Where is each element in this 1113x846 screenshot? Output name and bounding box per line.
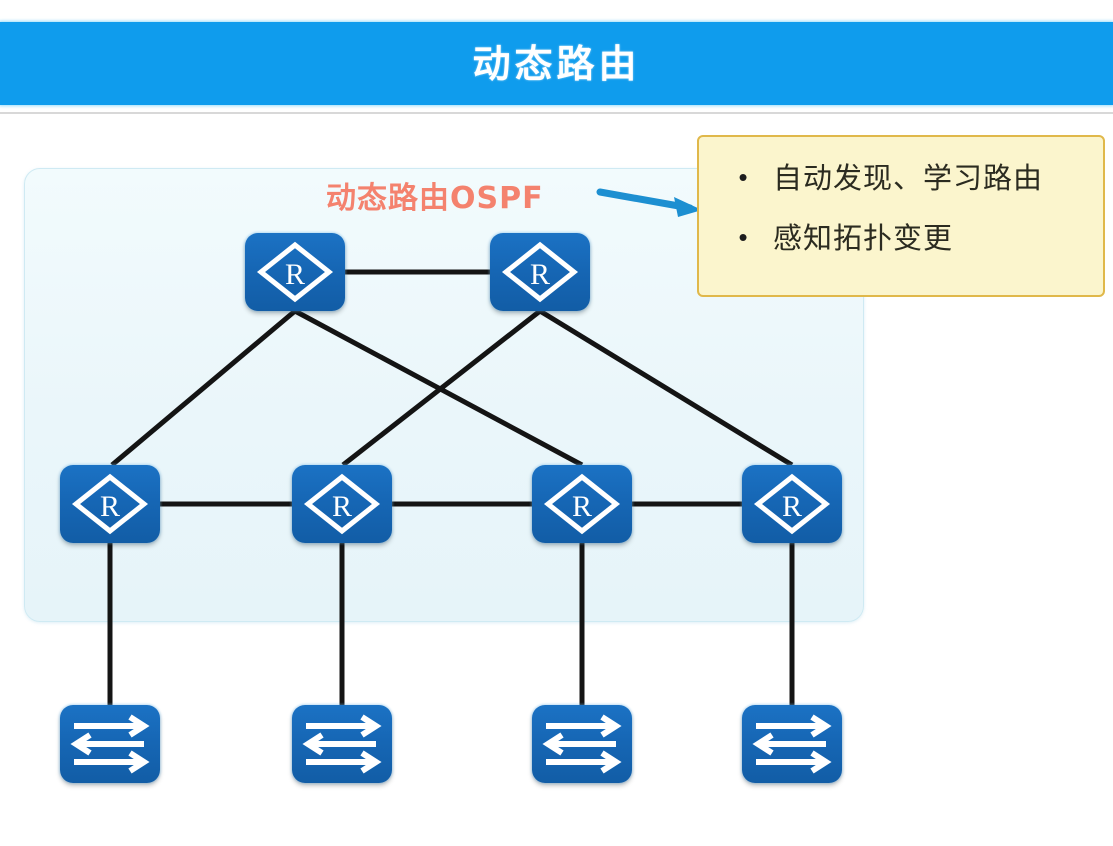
callout-item-1-text: 自动发现、学习路由	[773, 157, 1043, 199]
router-node-bottom-4[interactable]: R	[742, 465, 842, 543]
router-node-bottom-1[interactable]: R	[60, 465, 160, 543]
title-banner: 动态路由	[0, 22, 1113, 105]
svg-text:R: R	[285, 258, 305, 291]
feature-callout-box: • 自动发现、学习路由 • 感知拓扑变更	[697, 135, 1105, 297]
router-icon: R	[258, 242, 332, 302]
router-icon: R	[755, 474, 829, 534]
header-divider	[0, 112, 1113, 114]
switch-icon	[302, 715, 382, 773]
svg-text:R: R	[100, 490, 120, 523]
switch-node-1[interactable]	[60, 705, 160, 783]
router-icon: R	[545, 474, 619, 534]
bullet-icon: •	[713, 217, 773, 257]
svg-text:R: R	[332, 490, 352, 523]
svg-text:R: R	[572, 490, 592, 523]
router-icon: R	[73, 474, 147, 534]
router-node-bottom-2[interactable]: R	[292, 465, 392, 543]
router-node-top-1[interactable]: R	[245, 233, 345, 311]
svg-text:R: R	[530, 258, 550, 291]
switch-node-4[interactable]	[742, 705, 842, 783]
router-icon: R	[305, 474, 379, 534]
router-node-bottom-3[interactable]: R	[532, 465, 632, 543]
callout-item-2-text: 感知拓扑变更	[773, 217, 953, 259]
switch-icon	[542, 715, 622, 773]
switch-node-3[interactable]	[532, 705, 632, 783]
router-node-top-2[interactable]: R	[490, 233, 590, 311]
bullet-icon: •	[713, 157, 773, 197]
ospf-domain-label: 动态路由OSPF	[326, 173, 544, 217]
switch-icon	[752, 715, 832, 773]
callout-item-1: • 自动发现、学习路由	[713, 157, 1093, 217]
svg-text:R: R	[782, 490, 802, 523]
switch-icon	[70, 715, 150, 773]
network-topology-diagram: 动态路由OSPF	[0, 115, 1113, 846]
router-icon: R	[503, 242, 577, 302]
callout-item-2: • 感知拓扑变更	[713, 217, 1093, 277]
page-title: 动态路由	[472, 45, 640, 83]
switch-node-2[interactable]	[292, 705, 392, 783]
